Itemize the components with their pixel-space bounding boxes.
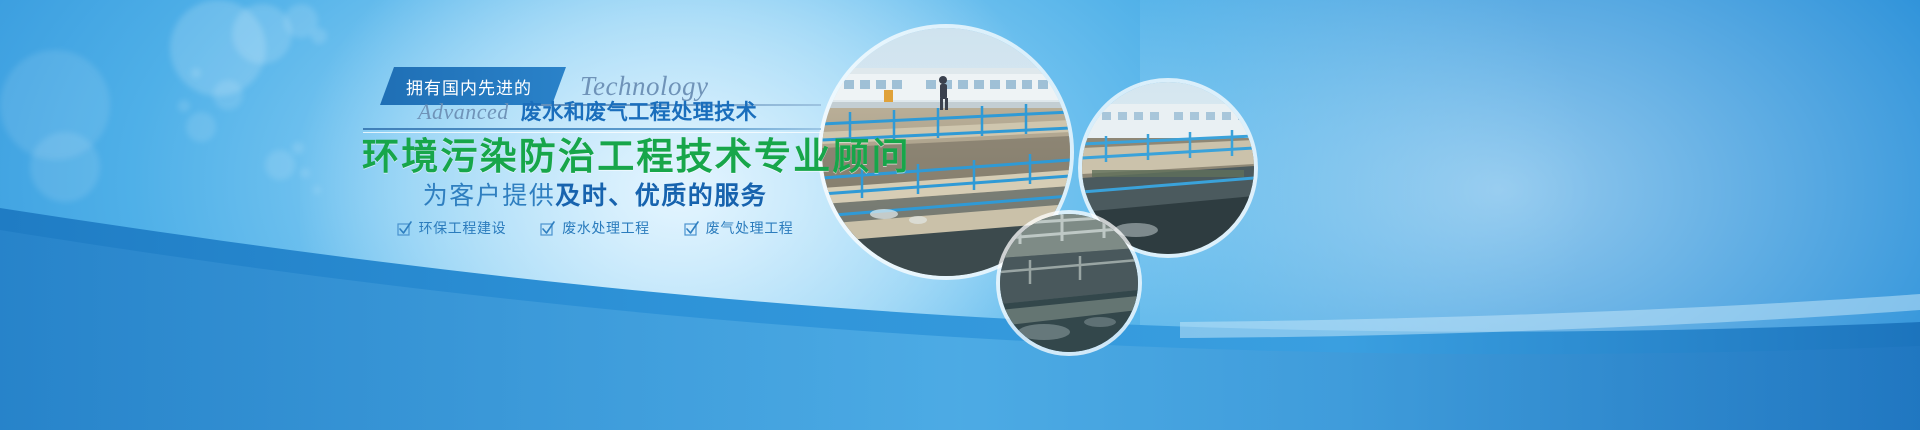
subtitle-chinese: 废水和废气工程处理技术 bbox=[521, 96, 758, 126]
divider-middle-highlight bbox=[363, 132, 821, 133]
advanced-script-word: Advanced bbox=[418, 99, 509, 125]
banner-text-block: 拥有国内先进的 Technology Advanced 废水和废气工程处理技术 … bbox=[0, 0, 860, 430]
feature-list: 环保工程建设 废水处理工程 废气处理工程 bbox=[360, 218, 830, 238]
tagline-strong: 及时、优质的服务 bbox=[555, 183, 767, 210]
check-icon bbox=[540, 221, 555, 236]
background-light-wash-right bbox=[1140, 0, 1920, 430]
check-icon bbox=[684, 221, 699, 236]
feature-item-2-label: 废水处理工程 bbox=[562, 218, 650, 238]
subtitle-row: Advanced 废水和废气工程处理技术 bbox=[380, 96, 840, 126]
feature-item-3-label: 废气处理工程 bbox=[706, 218, 794, 238]
photo-treatment-channel-medium bbox=[1082, 82, 1254, 254]
feature-item-1-label: 环保工程建设 bbox=[419, 218, 507, 238]
page-title: 环境污染防治工程技术专业顾问 bbox=[362, 136, 832, 177]
promo-banner: 拥有国内先进的 Technology Advanced 废水和废气工程处理技术 … bbox=[0, 0, 1920, 430]
feature-item-1[interactable]: 环保工程建设 bbox=[397, 218, 507, 238]
feature-item-3[interactable]: 废气处理工程 bbox=[684, 218, 794, 238]
check-icon bbox=[397, 221, 412, 236]
photo-sedimentation-tank-small bbox=[1000, 214, 1138, 352]
tagline: 为客户提供及时、优质的服务 bbox=[360, 182, 830, 212]
divider-middle bbox=[363, 128, 821, 130]
tagline-prefix: 为客户提供 bbox=[423, 183, 556, 210]
feature-item-2[interactable]: 废水处理工程 bbox=[540, 218, 650, 238]
ribbon-badge-label: 拥有国内先进的 bbox=[406, 74, 532, 99]
